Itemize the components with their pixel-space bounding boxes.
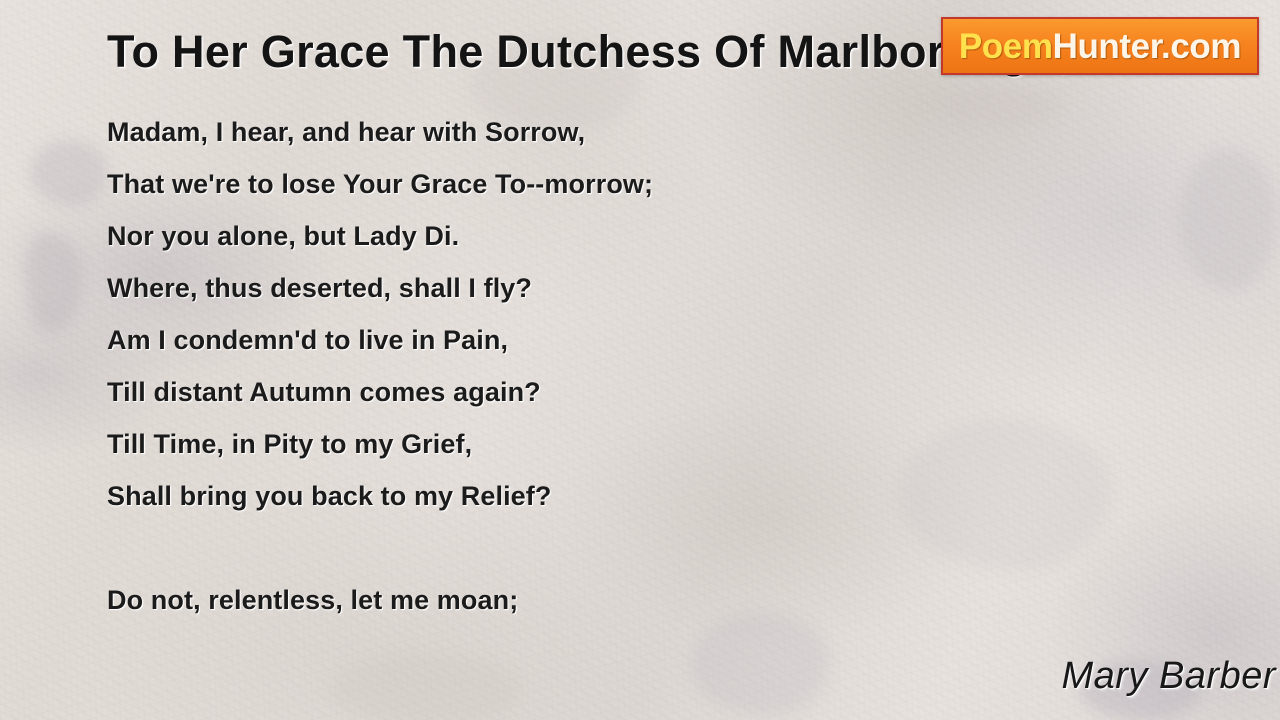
poem-slide: To Her Grace The Dutchess Of Marlborough… bbox=[0, 0, 1280, 720]
poem-content: To Her Grace The Dutchess Of Marlborough… bbox=[0, 0, 1280, 720]
poem-body: Madam, I hear, and hear with Sorrow, Tha… bbox=[107, 106, 927, 626]
poem-line: That we're to lose Your Grace To--morrow… bbox=[107, 158, 927, 210]
poem-author: Mary Barber bbox=[1061, 655, 1276, 698]
poem-line: Shall bring you back to my Relief? bbox=[107, 470, 927, 522]
poem-line: Where, thus deserted, shall I fly? bbox=[107, 262, 927, 314]
logo-wordmark: PoemHunter.com bbox=[959, 29, 1241, 64]
logo-text-poem: Poem bbox=[959, 27, 1053, 66]
poem-stanza-break bbox=[107, 522, 927, 574]
poemhunter-logo-watermark[interactable]: PoemHunter.com bbox=[941, 17, 1259, 75]
poem-line: Till Time, in Pity to my Grief, bbox=[107, 418, 927, 470]
poem-line: Madam, I hear, and hear with Sorrow, bbox=[107, 106, 927, 158]
poem-line: Am I condemn'd to live in Pain, bbox=[107, 314, 927, 366]
logo-text-hunter: Hunter.com bbox=[1053, 27, 1242, 66]
poem-line: Do not, relentless, let me moan; bbox=[107, 574, 927, 626]
poem-line: Nor you alone, but Lady Di. bbox=[107, 210, 927, 262]
poem-line: Till distant Autumn comes again? bbox=[107, 366, 927, 418]
